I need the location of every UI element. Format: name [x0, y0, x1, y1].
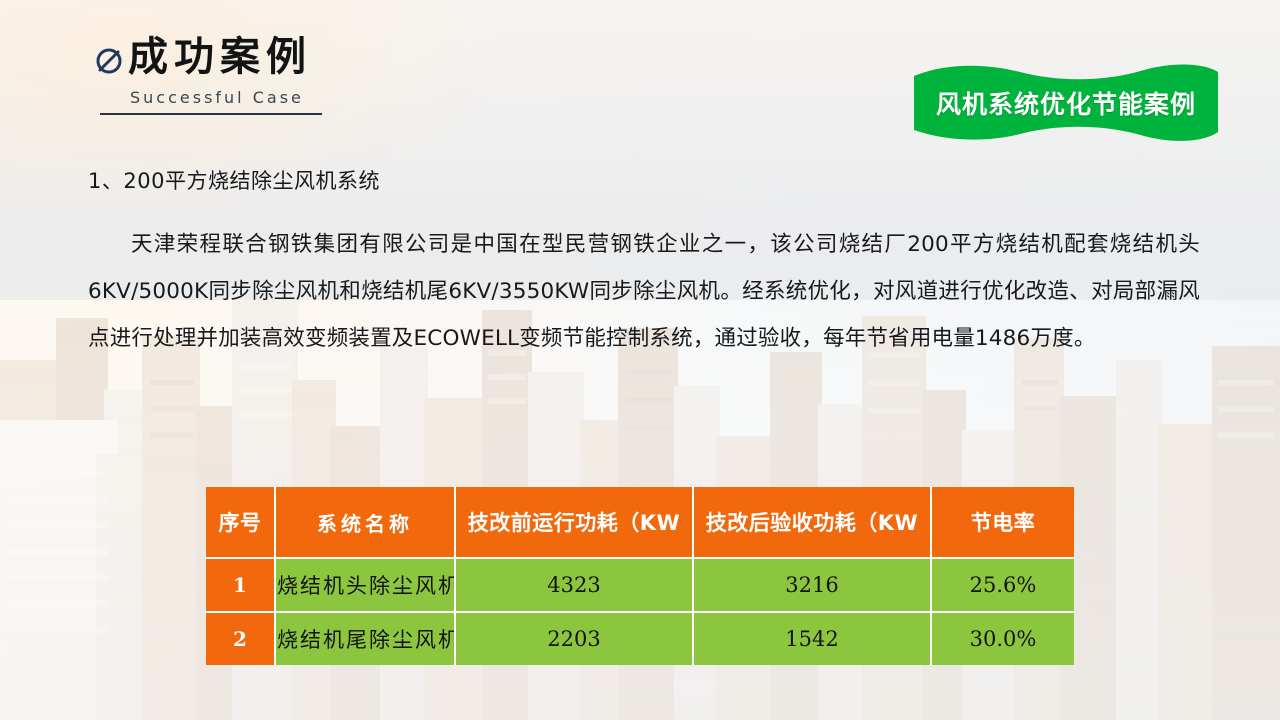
results-table: 序号 系统名称 技改前运行功耗（KW 技改后验收功耗（KW 节电率 1 烧结机头…: [206, 487, 1074, 665]
cell-index: 1: [206, 559, 276, 613]
title-divider: [100, 113, 322, 115]
slide-root: 成功案例 Successful Case 风机系统优化节能案例 1、200平方烧…: [0, 0, 1280, 720]
col-header-index: 序号: [206, 487, 276, 559]
col-header-saving-rate: 节电率: [932, 487, 1074, 559]
table-row: 1 烧结机头除尘风机 4323 3216 25.6%: [206, 559, 1074, 613]
cell-power-after: 1542: [694, 613, 932, 665]
cell-saving-rate: 25.6%: [932, 559, 1074, 613]
results-table-wrap: 序号 系统名称 技改前运行功耗（KW 技改后验收功耗（KW 节电率 1 烧结机头…: [206, 487, 1074, 665]
col-header-system-name: 系统名称: [276, 487, 456, 559]
table-header-row: 序号 系统名称 技改前运行功耗（KW 技改后验收功耗（KW 节电率: [206, 487, 1074, 559]
page-title: 成功案例: [128, 36, 312, 78]
cell-power-before: 2203: [456, 613, 694, 665]
cell-system-name: 烧结机头除尘风机: [276, 559, 456, 613]
ribbon-label: 风机系统优化节能案例: [908, 62, 1224, 144]
col-header-power-before: 技改前运行功耗（KW: [456, 487, 694, 559]
slashed-circle-icon: [92, 43, 126, 77]
content-body: 1、200平方烧结除尘风机系统 天津荣程联合钢铁集团有限公司是中国在型民营钢铁企…: [88, 168, 1200, 362]
page-title-block: 成功案例 Successful Case: [92, 36, 512, 115]
col-header-power-after: 技改后验收功耗（KW: [694, 487, 932, 559]
cell-index: 2: [206, 613, 276, 665]
table-row: 2 烧结机尾除尘风机 2203 1542 30.0%: [206, 613, 1074, 665]
content-heading: 1、200平方烧结除尘风机系统: [88, 168, 1200, 195]
cell-power-before: 4323: [456, 559, 694, 613]
section-ribbon-banner: 风机系统优化节能案例: [908, 62, 1224, 144]
cell-saving-rate: 30.0%: [932, 613, 1074, 665]
content-paragraph: 天津荣程联合钢铁集团有限公司是中国在型民营钢铁企业之一，该公司烧结厂200平方烧…: [88, 221, 1200, 362]
page-subtitle: Successful Case: [130, 88, 512, 107]
cell-system-name: 烧结机尾除尘风机: [276, 613, 456, 665]
cell-power-after: 3216: [694, 559, 932, 613]
